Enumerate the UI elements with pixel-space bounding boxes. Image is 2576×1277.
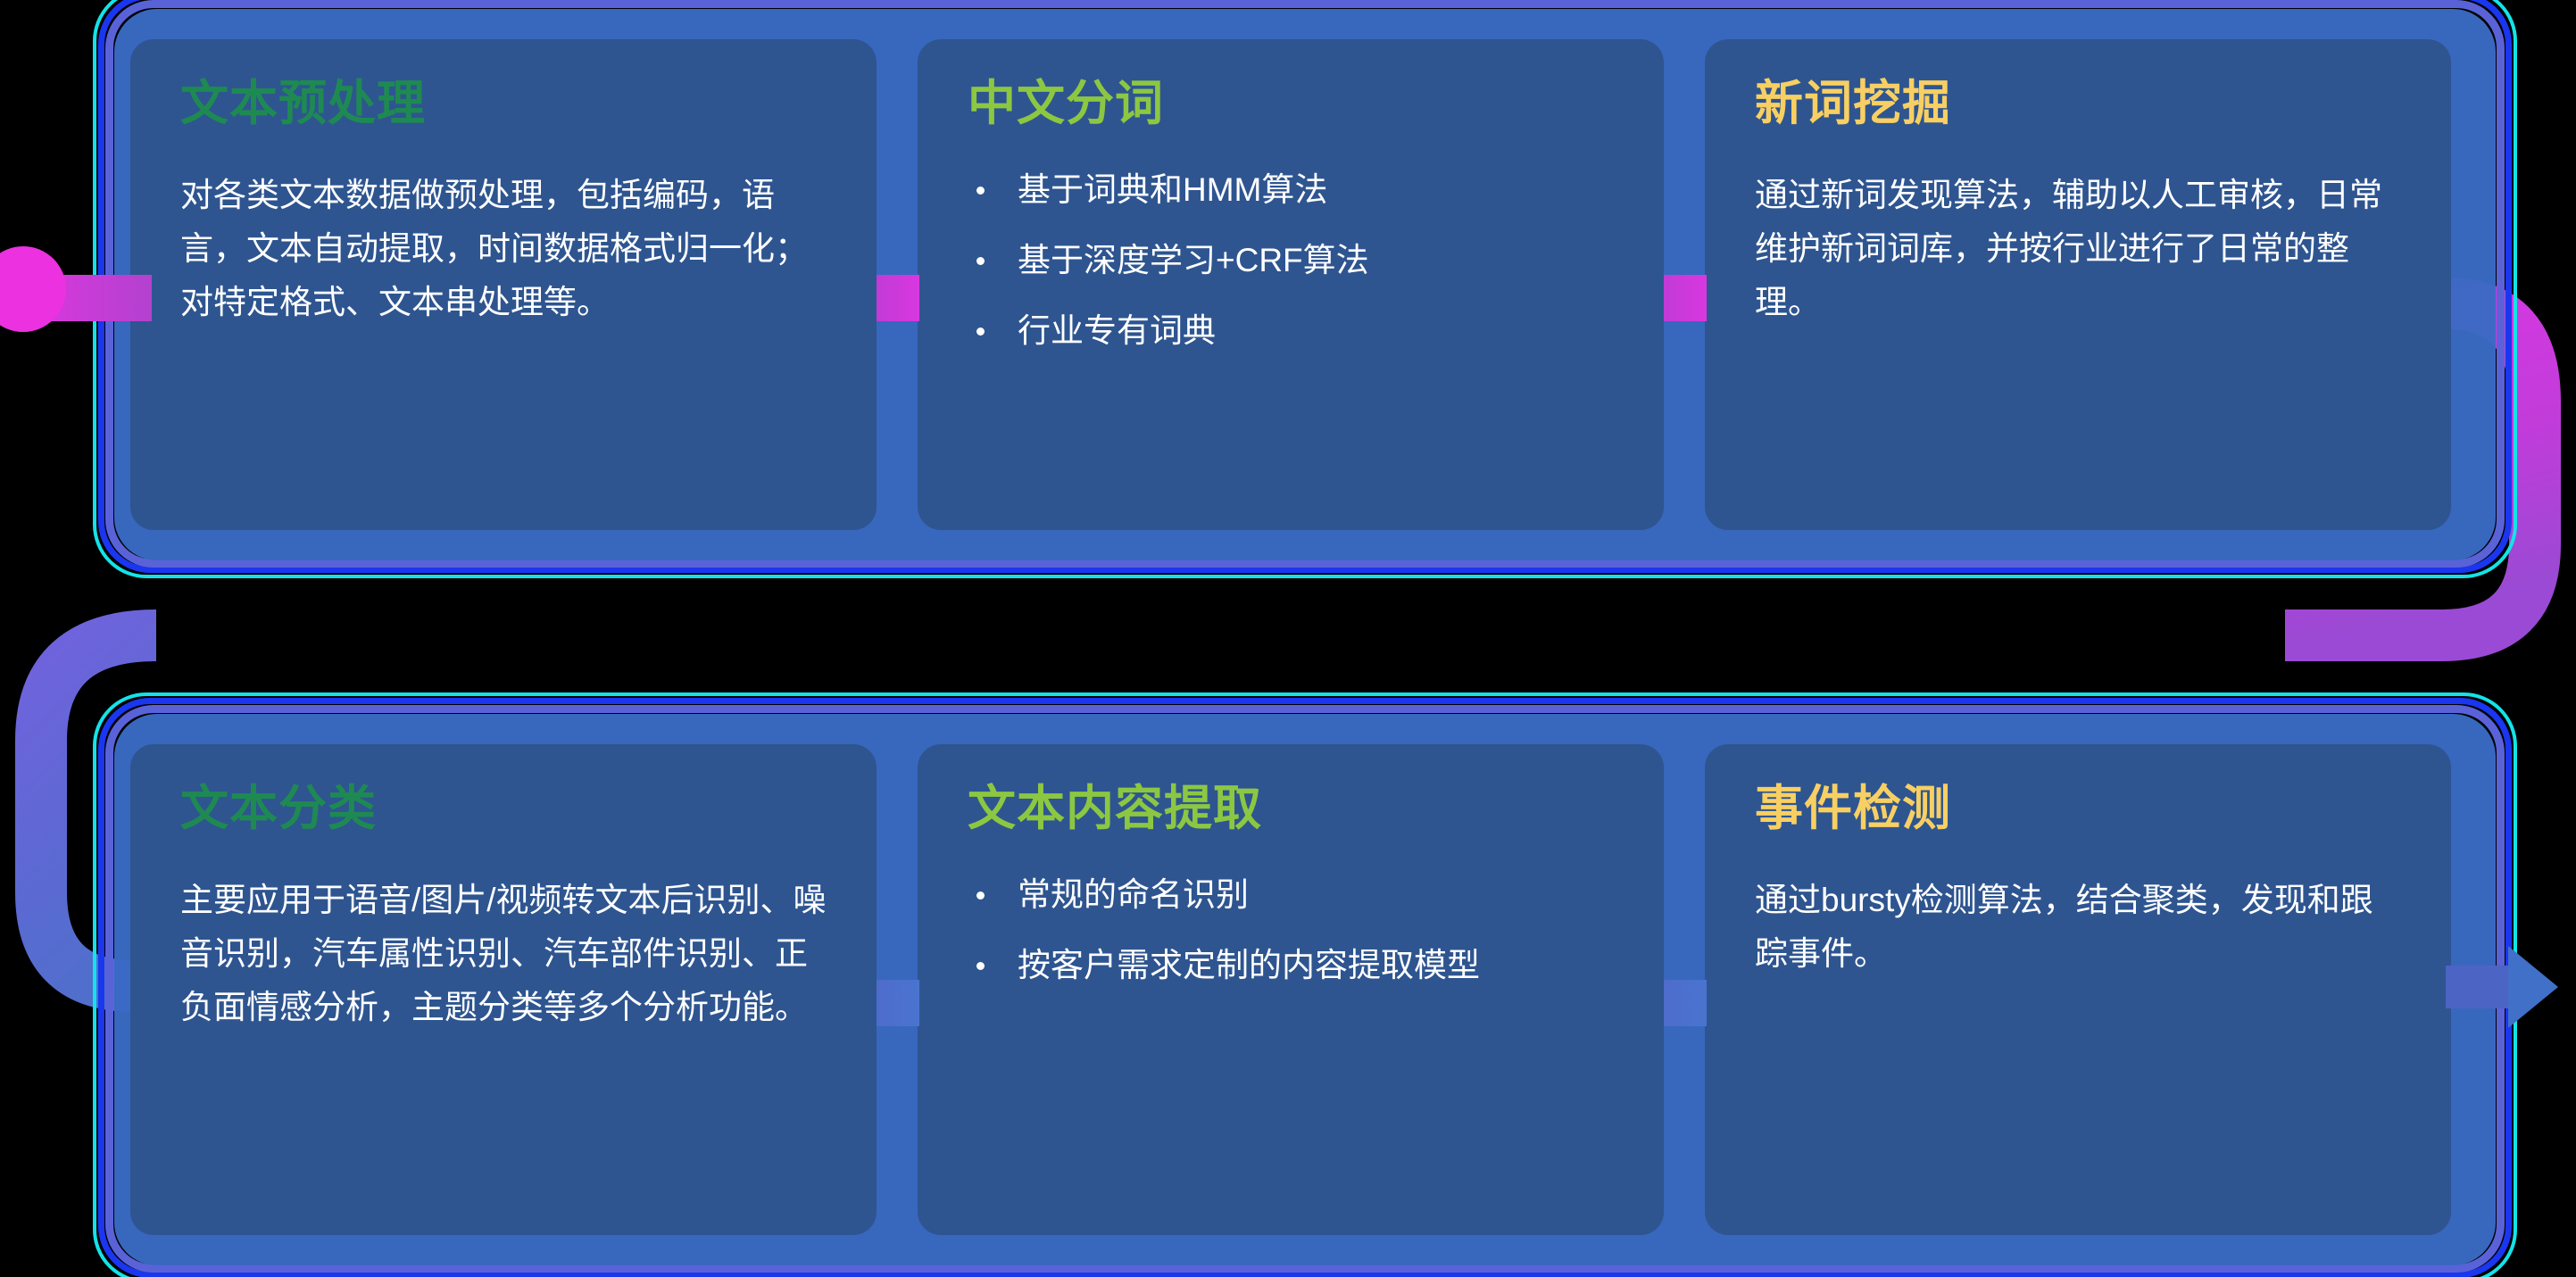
list-item: 常规的命名识别 (968, 874, 1614, 916)
list-item-label: 基于深度学习+CRF算法 (1018, 242, 1369, 278)
card-paragraph: 对各类文本数据做预处理，包括编码，语言，文本自动提取，时间数据格式归一化；对特定… (180, 169, 827, 329)
card-text-classification[interactable]: 文本分类 主要应用于语音/图片/视频转文本后识别、噪音识别，汽车属性识别、汽车部… (130, 744, 877, 1235)
bullet-dot-icon (976, 257, 985, 265)
bullet-dot-icon (976, 328, 985, 336)
card-title: 文本预处理 (180, 79, 827, 129)
connector-nub-card2-card3 (1664, 275, 1707, 321)
bullet-dot-icon (976, 891, 985, 900)
card-content-extraction[interactable]: 文本内容提取 常规的命名识别 按客户需求定制的内容提取模型 (918, 744, 1664, 1235)
list-item-label: 按客户需求定制的内容提取模型 (1018, 947, 1480, 983)
list-item: 按客户需求定制的内容提取模型 (968, 944, 1614, 987)
card-text-preprocessing[interactable]: 文本预处理 对各类文本数据做预处理，包括编码，语言，文本自动提取，时间数据格式归… (130, 39, 877, 530)
flow-end-arrow-icon (2508, 946, 2558, 1028)
infographic-canvas: 文本预处理 对各类文本数据做预处理，包括编码，语言，文本自动提取，时间数据格式归… (0, 0, 2576, 1277)
list-item: 基于深度学习+CRF算法 (968, 239, 1614, 282)
connector-nub-card4-card5 (877, 980, 919, 1026)
bullet-dot-icon (976, 187, 985, 195)
card-bullet-list: 基于词典和HMM算法 基于深度学习+CRF算法 行业专有词典 (968, 169, 1614, 352)
connector-nub-card5-card6 (1664, 980, 1707, 1026)
card-new-word-discovery[interactable]: 新词挖掘 通过新词发现算法，辅助以人工审核，日常维护新词词库，并按行业进行了日常… (1705, 39, 2451, 530)
card-paragraph: 通过新词发现算法，辅助以人工审核，日常维护新词词库，并按行业进行了日常的整理。 (1755, 169, 2401, 329)
connector-nub-card1-card2 (877, 275, 919, 321)
list-item-label: 常规的命名识别 (1018, 876, 1249, 913)
card-paragraph: 通过bursty检测算法，结合聚类，发现和跟踪事件。 (1755, 874, 2401, 981)
card-title: 文本内容提取 (968, 784, 1614, 834)
card-title: 中文分词 (968, 79, 1614, 129)
card-title: 新词挖掘 (1755, 79, 2401, 129)
card-chinese-segmentation[interactable]: 中文分词 基于词典和HMM算法 基于深度学习+CRF算法 行业专有词典 (918, 39, 1664, 530)
list-item: 行业专有词典 (968, 310, 1614, 352)
card-event-detection[interactable]: 事件检测 通过bursty检测算法，结合聚类，发现和跟踪事件。 (1705, 744, 2451, 1235)
list-item-label: 基于词典和HMM算法 (1018, 171, 1327, 208)
card-title: 事件检测 (1755, 784, 2401, 834)
bullet-dot-icon (976, 962, 985, 970)
card-paragraph: 主要应用于语音/图片/视频转文本后识别、噪音识别，汽车属性识别、汽车部件识别、正… (180, 874, 827, 1034)
list-item: 基于词典和HMM算法 (968, 169, 1614, 211)
card-title: 文本分类 (180, 784, 827, 834)
flow-end-bar (2446, 966, 2508, 1008)
card-bullet-list: 常规的命名识别 按客户需求定制的内容提取模型 (968, 874, 1614, 987)
list-item-label: 行业专有词典 (1018, 312, 1216, 349)
